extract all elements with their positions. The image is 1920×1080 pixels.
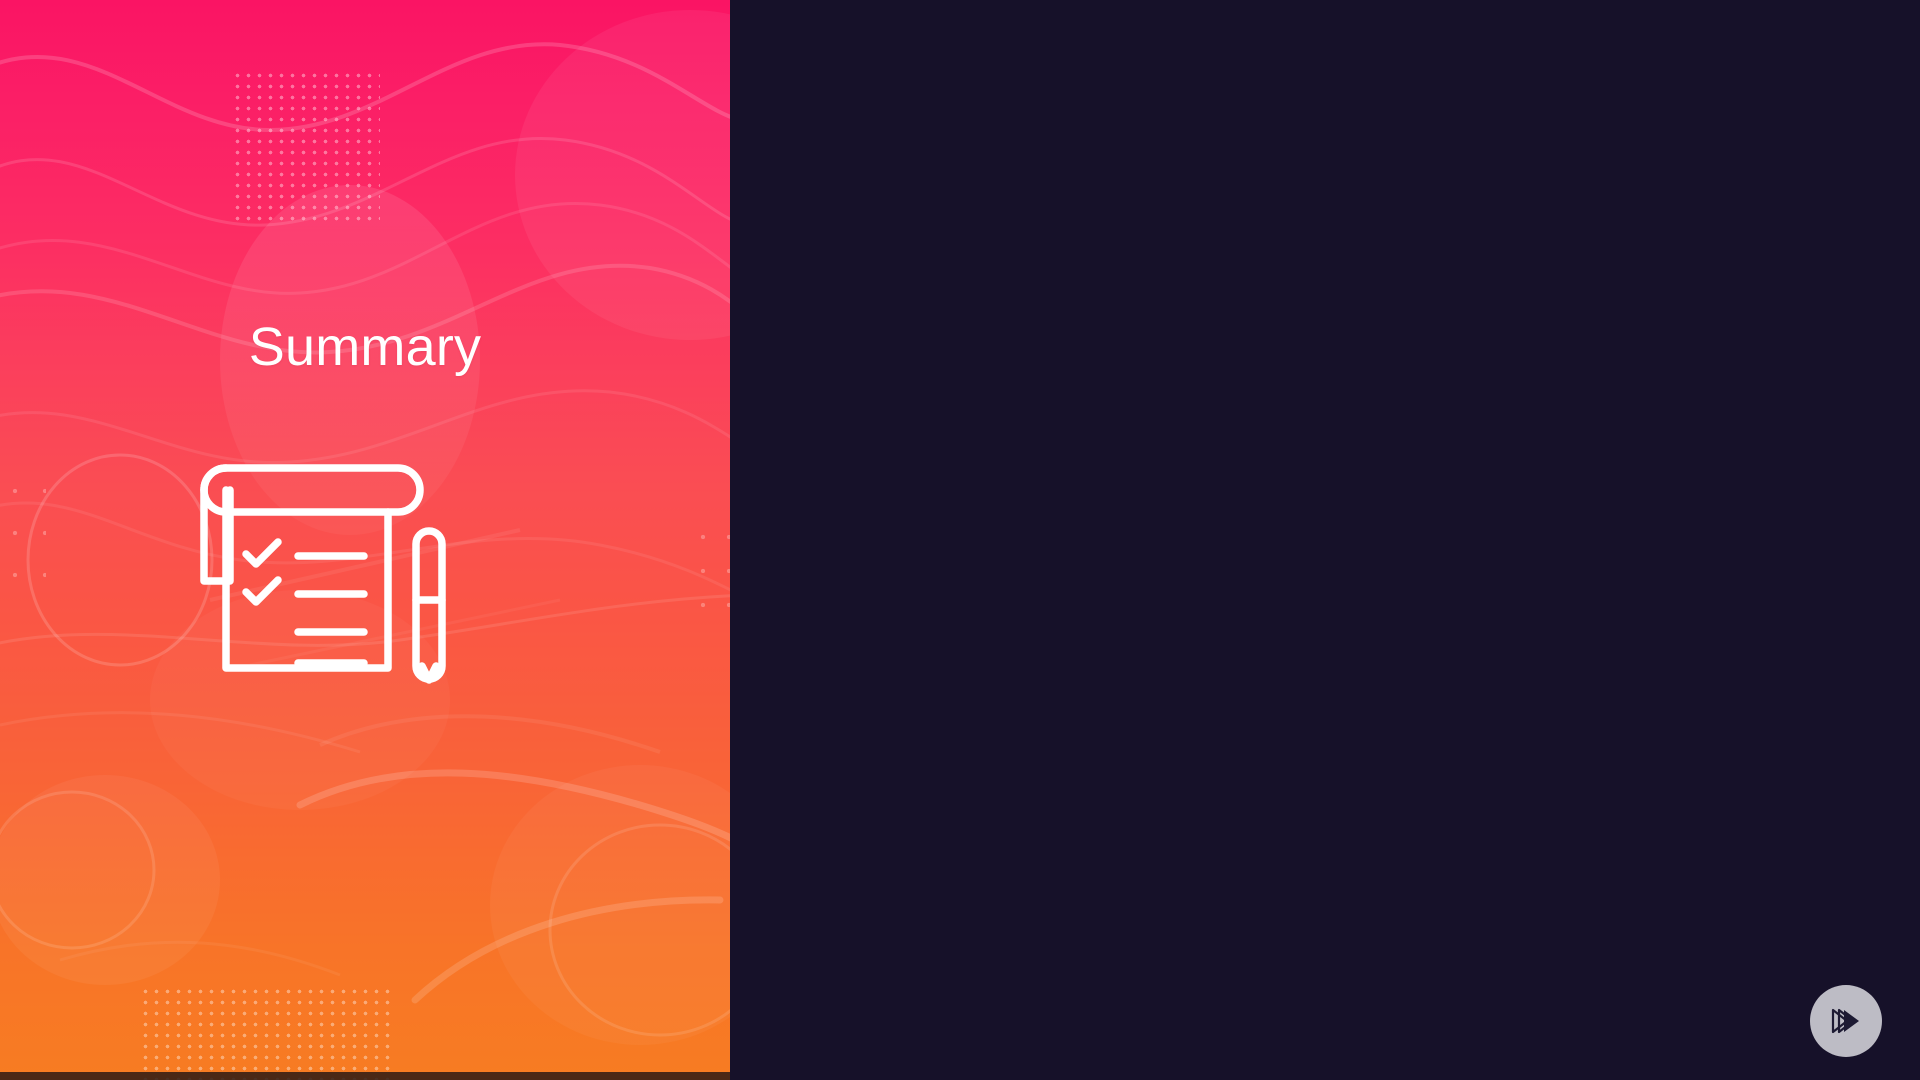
slide-title: Summary xyxy=(0,318,730,377)
slide-bottom-strip xyxy=(0,1072,730,1080)
scattered-dots-right xyxy=(690,520,730,630)
checklist-scroll-with-pen-icon xyxy=(198,448,508,728)
slide-panel: Summary xyxy=(0,0,730,1080)
play-forward-button[interactable] xyxy=(1810,985,1882,1057)
video-stage xyxy=(730,0,1920,1080)
scattered-dots-left xyxy=(0,470,46,600)
play-forward-icon xyxy=(1827,1002,1865,1040)
halftone-dots-bottom xyxy=(140,986,390,1080)
halftone-dots-top xyxy=(232,70,380,222)
presentation-viewer: Summary xyxy=(0,0,1920,1080)
